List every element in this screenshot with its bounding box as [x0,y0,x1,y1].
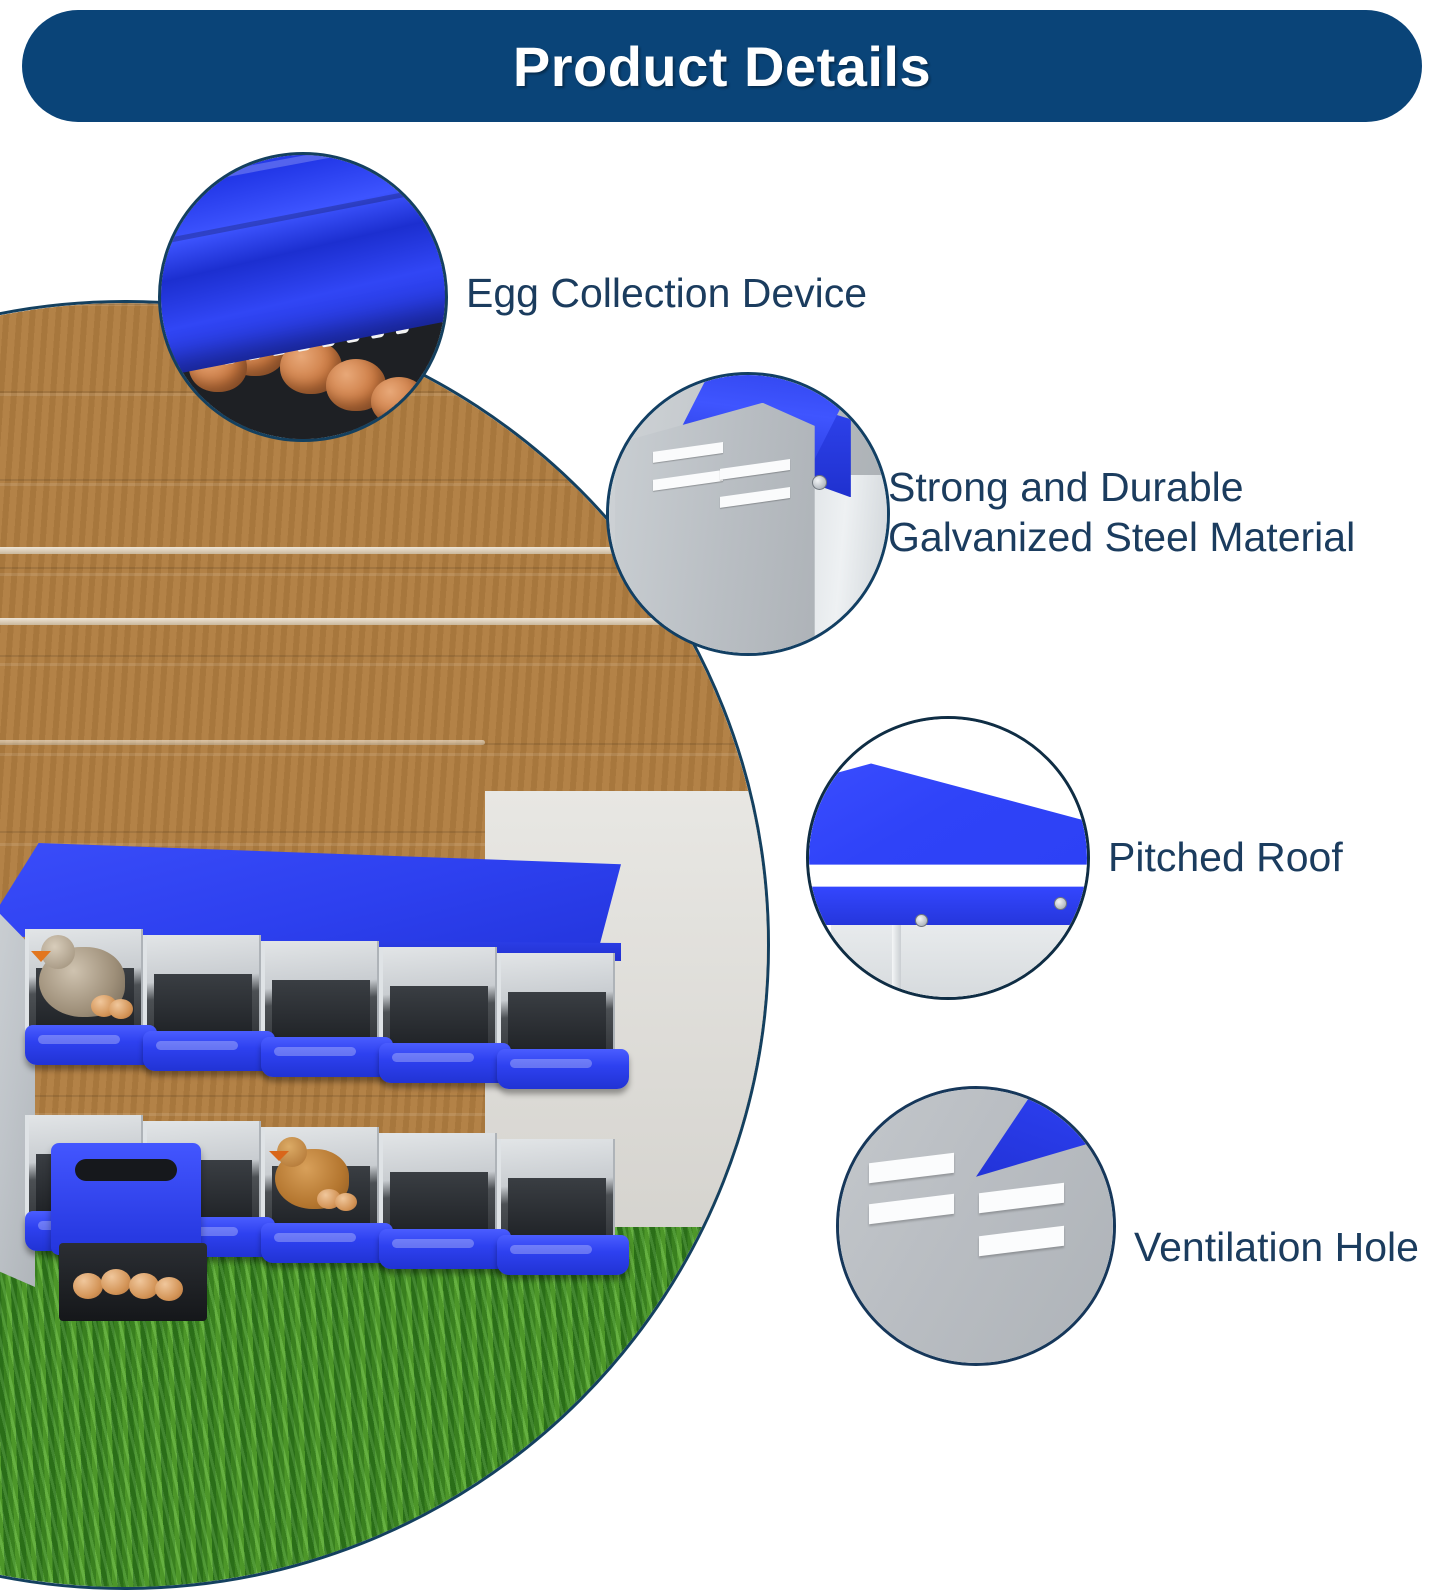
perch-flap [25,1025,157,1065]
rivet-icon [1054,897,1067,910]
screw-icon [812,475,827,490]
rivet-icon [915,914,928,927]
perch-flap [497,1235,629,1275]
egg [155,1277,183,1301]
perch-flap [261,1223,393,1263]
perch-flap [497,1049,629,1089]
perch-flap [143,1031,275,1071]
callout-galvanized-steel [606,372,890,656]
callout-label-galvanized-steel: Strong and Durable Galvanized Steel Mate… [888,462,1355,562]
egg-collection-drawer [59,1243,207,1321]
hen-beak [31,951,51,962]
callout-label-egg-collection: Egg Collection Device [466,268,867,318]
fence-rail [0,547,690,554]
perch-flap [261,1037,393,1077]
callout-pitched-roof [806,716,1090,1000]
egg-drawer-handle [51,1143,201,1255]
fence-rail [0,618,690,625]
hen-beak [269,1151,289,1161]
egg [335,1193,357,1211]
callout-label-ventilation-hole: Ventilation Hole [1134,1222,1419,1272]
page-title: Product Details [513,34,931,99]
callout-egg-collection [158,152,448,442]
page-header-banner: Product Details [22,10,1422,122]
perch-flap [379,1043,511,1083]
egg [73,1273,103,1299]
egg [371,377,427,425]
callout-label-pitched-roof: Pitched Roof [1108,832,1343,882]
egg [101,1269,131,1295]
egg [109,999,133,1019]
callout-ventilation-hole [836,1086,1116,1366]
nesting-box [0,843,663,1373]
fence-rail [0,740,485,745]
perch-flap [379,1229,511,1269]
nesting-row-top [25,929,625,1079]
